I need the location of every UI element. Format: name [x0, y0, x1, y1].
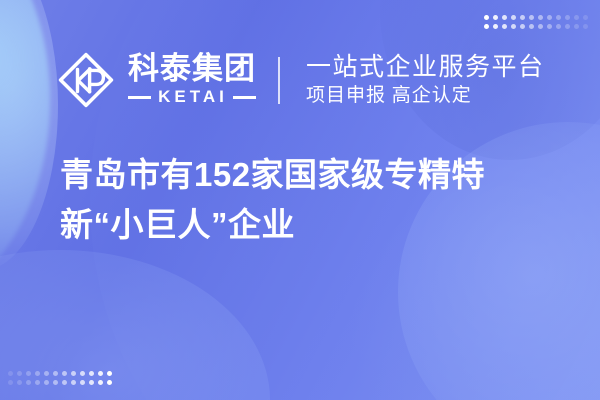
header-vertical-divider — [278, 57, 280, 104]
decorative-dot — [556, 24, 561, 29]
logo-english-row: KETAI — [128, 87, 256, 107]
logo-chinese-name: 科泰集团 — [128, 53, 256, 85]
logo-rule-right — [233, 96, 256, 99]
decorative-dot — [538, 24, 543, 29]
decorative-dot — [35, 380, 40, 385]
decorative-dot — [583, 24, 588, 29]
decorative-dot — [71, 371, 76, 376]
decorative-dot — [538, 15, 543, 20]
dot-grid-bottom-left — [8, 371, 112, 385]
decorative-dot — [574, 24, 579, 29]
decorative-dot — [565, 15, 570, 20]
decorative-dot — [484, 15, 489, 20]
decorative-dot — [44, 371, 49, 376]
background-blob-bottom-left — [0, 250, 270, 400]
logo-rule-left — [128, 96, 151, 99]
decorative-dot — [80, 371, 85, 376]
decorative-dot — [71, 380, 76, 385]
decorative-dot — [493, 15, 498, 20]
decorative-dot — [502, 15, 507, 20]
decorative-dot — [26, 371, 31, 376]
decorative-dot — [565, 24, 570, 29]
decorative-dot — [574, 15, 579, 20]
decorative-dot — [53, 380, 58, 385]
decorative-dot — [8, 380, 13, 385]
decorative-dot — [17, 380, 22, 385]
decorative-dot — [107, 380, 112, 385]
decorative-dot — [520, 24, 525, 29]
decorative-dot — [493, 24, 498, 29]
decorative-dot — [520, 15, 525, 20]
decorative-dot — [62, 371, 67, 376]
decorative-dot — [80, 380, 85, 385]
brand-logo[interactable]: 科泰集团 KETAI — [56, 50, 256, 110]
tagline-primary: 一站式企业服务平台 — [306, 53, 545, 81]
decorative-dot — [583, 15, 588, 20]
decorative-dot — [89, 380, 94, 385]
decorative-dot — [107, 371, 112, 376]
promotional-banner: 科泰集团 KETAI 一站式企业服务平台 项目申报 高企认定 青岛市有152家国… — [0, 0, 600, 400]
decorative-dot — [502, 24, 507, 29]
decorative-dot — [547, 15, 552, 20]
decorative-dot — [511, 24, 516, 29]
decorative-dot — [556, 15, 561, 20]
decorative-dot — [511, 15, 516, 20]
decorative-dot — [547, 24, 552, 29]
banner-header: 科泰集团 KETAI 一站式企业服务平台 项目申报 高企认定 — [0, 40, 600, 120]
decorative-dot — [53, 371, 58, 376]
decorative-dot — [26, 380, 31, 385]
logo-english-name: KETAI — [151, 87, 233, 107]
dot-grid-top-right — [484, 15, 588, 29]
headline-text: 青岛市有152家国家级专精特新“小巨人”企业 — [60, 150, 565, 250]
tagline-secondary: 项目申报 高企认定 — [306, 84, 545, 108]
decorative-dot — [35, 371, 40, 376]
decorative-dot — [98, 371, 103, 376]
decorative-dot — [529, 24, 534, 29]
ketai-diamond-monogram-icon — [56, 50, 116, 110]
decorative-dot — [17, 371, 22, 376]
decorative-dot — [484, 24, 489, 29]
logo-wordmark: 科泰集团 KETAI — [128, 53, 256, 108]
tagline-block: 一站式企业服务平台 项目申报 高企认定 — [306, 53, 545, 108]
decorative-dot — [98, 380, 103, 385]
decorative-dot — [89, 371, 94, 376]
decorative-dot — [8, 371, 13, 376]
decorative-dot — [44, 380, 49, 385]
decorative-dot — [529, 15, 534, 20]
decorative-dot — [62, 380, 67, 385]
